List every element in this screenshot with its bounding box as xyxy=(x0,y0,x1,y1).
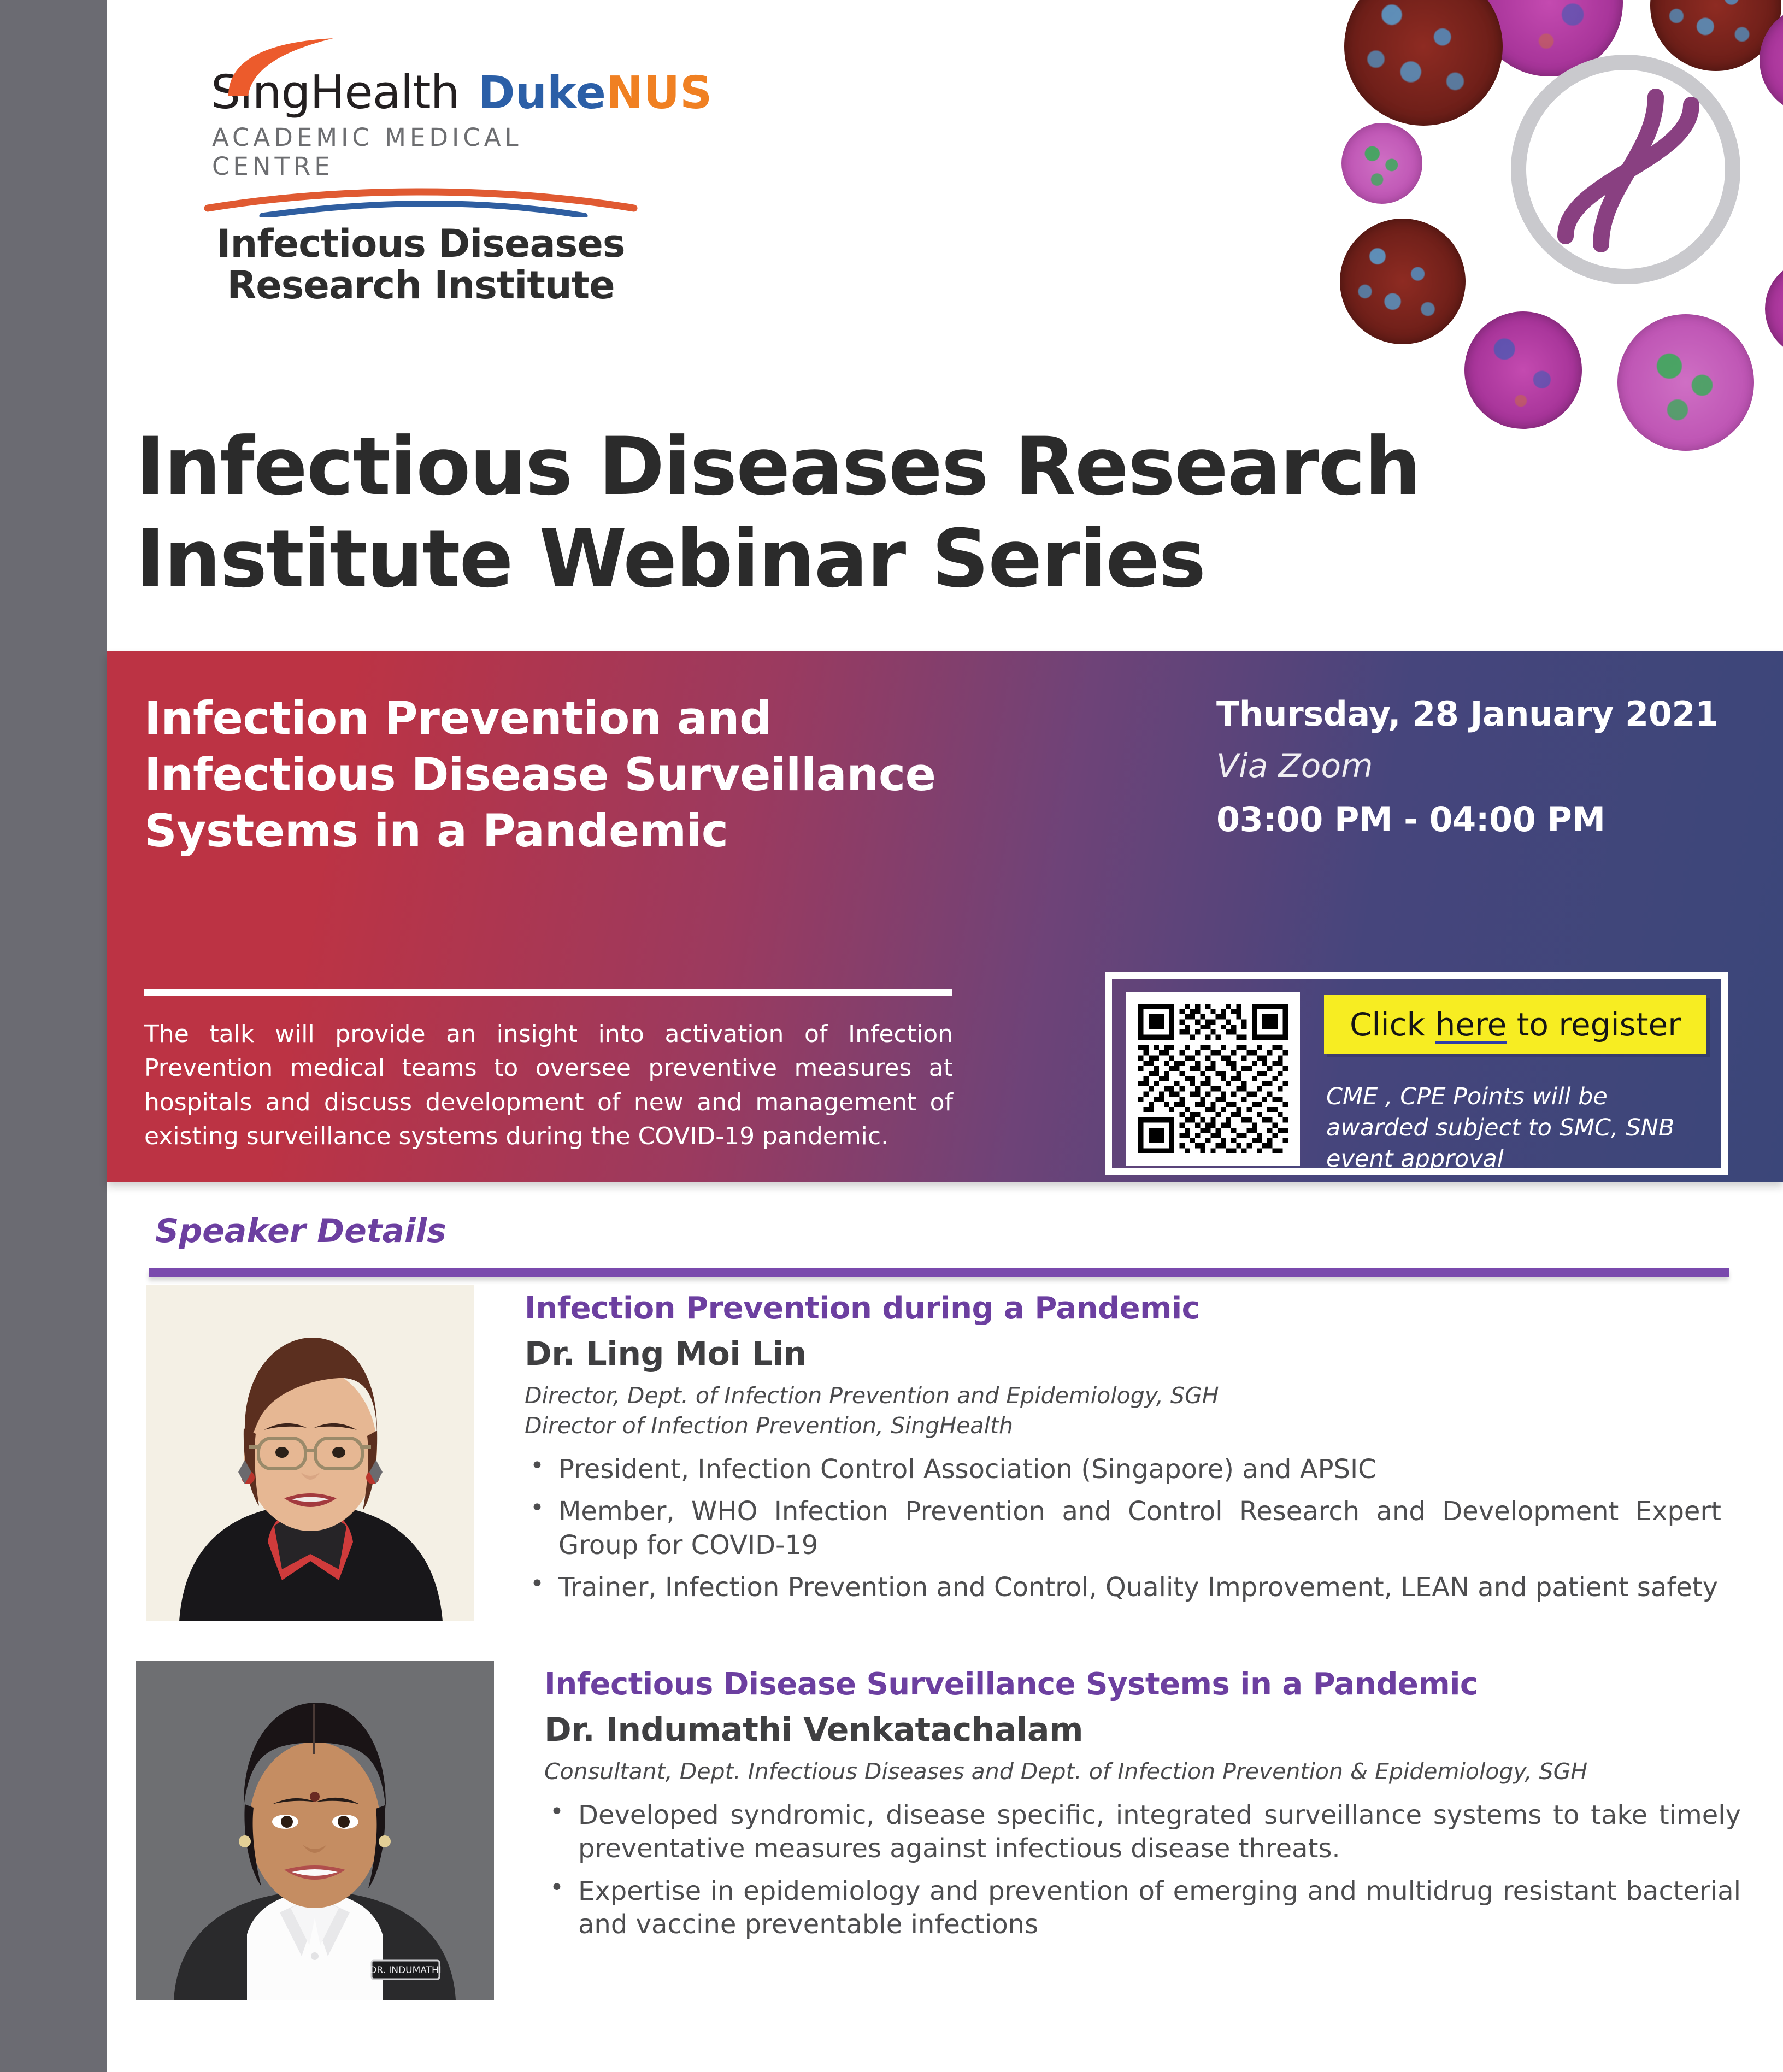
virus-particle-icon xyxy=(1341,123,1422,204)
page-title: Infectious Diseases Research Institute W… xyxy=(136,421,1611,606)
event-date: Thursday, 28 January 2021 xyxy=(1216,694,1719,734)
list-item: Expertise in epidemiology and prevention… xyxy=(544,1875,1741,1942)
speaker-topic: Infection Prevention during a Pandemic xyxy=(525,1291,1721,1326)
event-details: Thursday, 28 January 2021 Via Zoom 03:00… xyxy=(1216,694,1719,839)
speaker-card: DR. INDUMATHI Infectious xyxy=(136,1661,1741,2000)
speaker-section-divider xyxy=(149,1268,1729,1277)
register-suffix: to register xyxy=(1507,1006,1681,1043)
speaker-credentials: Developed syndromic, disease specific, i… xyxy=(544,1799,1741,1942)
virus-particle-icon xyxy=(1617,314,1754,451)
speaker-info: Infectious Disease Surveillance Systems … xyxy=(544,1661,1741,2000)
swoosh-icon xyxy=(224,37,339,97)
speaker-topic: Infectious Disease Surveillance Systems … xyxy=(544,1667,1741,1702)
list-item: Developed syndromic, disease specific, i… xyxy=(544,1799,1741,1866)
register-link[interactable]: here xyxy=(1435,1006,1507,1043)
institute-name-line2: Research Institute xyxy=(202,265,639,307)
register-button[interactable]: Click here to register xyxy=(1324,995,1706,1054)
qr-code-icon[interactable] xyxy=(1126,992,1300,1165)
event-platform: Via Zoom xyxy=(1216,747,1719,785)
register-button-label: Click here to register xyxy=(1350,1006,1681,1043)
speaker-credentials: President, Infection Control Association… xyxy=(525,1453,1721,1605)
banner-description: The talk will provide an insight into ac… xyxy=(144,1017,953,1154)
speaker-info: Infection Prevention during a Pandemic D… xyxy=(525,1285,1721,1621)
speaker-role-line2: Director of Infection Prevention, SingHe… xyxy=(525,1411,1721,1441)
webinar-poster: SingHealth DukeNUS ACADEMIC MEDICAL CENT… xyxy=(0,0,1783,2072)
speaker-role-line1: Director, Dept. of Infection Prevention … xyxy=(525,1381,1721,1411)
speaker-name: Dr. Ling Moi Lin xyxy=(525,1335,1721,1373)
list-item: Trainer, Infection Prevention and Contro… xyxy=(525,1571,1721,1604)
list-item: Member, WHO Infection Prevention and Con… xyxy=(525,1495,1721,1562)
avatar: DR. INDUMATHI xyxy=(136,1661,494,2000)
event-time: 03:00 PM - 04:00 PM xyxy=(1216,799,1719,839)
speaker-details-heading: Speaker Details xyxy=(155,1212,446,1250)
logo-duke-text: Duke xyxy=(478,67,606,119)
dna-helix-icon xyxy=(1511,55,1740,284)
virus-particle-icon xyxy=(1344,0,1503,126)
left-gutter-bar xyxy=(0,0,107,2072)
institute-name-line1: Infectious Diseases xyxy=(202,223,639,265)
registration-panel: Click here to register CME , CPE Points … xyxy=(1105,972,1728,1175)
register-prefix: Click xyxy=(1350,1006,1435,1043)
virus-particle-icon xyxy=(1340,219,1466,344)
avatar xyxy=(146,1285,474,1621)
cme-cpe-note: CME , CPE Points will be awarded subject… xyxy=(1326,1081,1703,1174)
logo-arcs xyxy=(202,184,650,217)
list-item: President, Infection Control Association… xyxy=(525,1453,1721,1486)
institute-name: Infectious Diseases Research Institute xyxy=(202,223,639,306)
speaker-role-line1: Consultant, Dept. Infectious Diseases an… xyxy=(544,1757,1741,1787)
speaker-name: Dr. Indumathi Venkatachalam xyxy=(544,1711,1741,1749)
virus-particle-icon xyxy=(1760,5,1783,115)
virus-particle-icon xyxy=(1765,260,1783,358)
logo-nus-text: NUS xyxy=(606,67,712,119)
banner-topic-title: Infection Prevention and Infectious Dise… xyxy=(144,691,986,860)
logo-amc-text: ACADEMIC MEDICAL CENTRE xyxy=(202,123,650,181)
banner-divider xyxy=(144,989,952,996)
speaker-card: Infection Prevention during a Pandemic D… xyxy=(146,1285,1721,1621)
svg-text:DR. INDUMATHI: DR. INDUMATHI xyxy=(369,1965,442,1976)
virus-particle-icon xyxy=(1464,311,1582,429)
institute-logo: SingHealth DukeNUS ACADEMIC MEDICAL CENT… xyxy=(202,66,650,306)
